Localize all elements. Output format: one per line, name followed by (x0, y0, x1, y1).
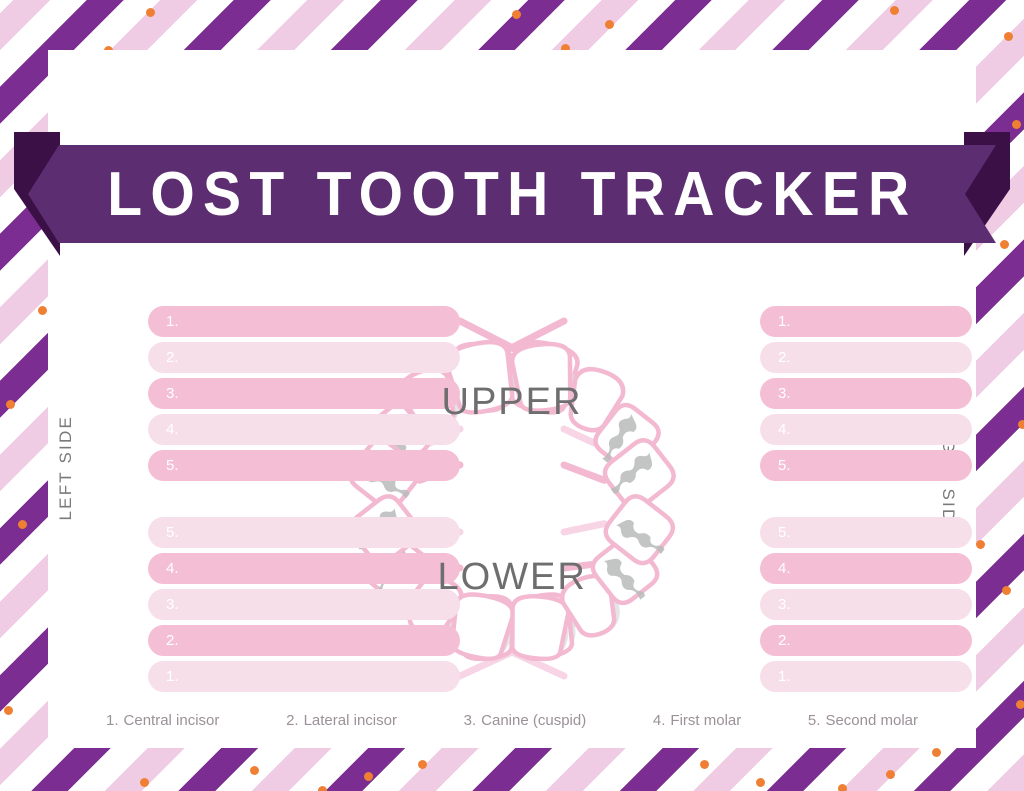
blank-upper-right-2[interactable]: 2. (760, 342, 972, 373)
blank-upper-left-2[interactable]: 2. (148, 342, 460, 373)
confetti-dot (605, 20, 614, 29)
blank-lower-left-4[interactable]: 2. (148, 625, 460, 656)
tooth-legend: 1.Central incisor2.Lateral incisor3.Cani… (48, 712, 976, 729)
lower-arch-label: LOWER (438, 556, 587, 599)
blank-upper-left-4[interactable]: 4. (148, 414, 460, 445)
blank-lower-left-3[interactable]: 3. (148, 589, 460, 620)
connector-lower-right-5 (564, 524, 604, 532)
blank-lower-right-5[interactable]: 1. (760, 661, 972, 692)
confetti-dot (838, 784, 847, 791)
confetti-dot (38, 306, 47, 315)
blank-upper-right-3[interactable]: 3. (760, 378, 972, 409)
connector-upper-right-5 (564, 465, 604, 480)
confetti-dot (4, 706, 13, 715)
confetti-dot (146, 8, 155, 17)
confetti-dot (18, 520, 27, 529)
confetti-dot (886, 770, 895, 779)
confetti-dot (932, 748, 941, 757)
ribbon-body: LOST TOOTH TRACKER (28, 145, 996, 243)
blank-upper-right-5[interactable]: 5. (760, 450, 972, 481)
confetti-dot (1004, 32, 1013, 41)
confetti-dot (756, 778, 765, 787)
confetti-dot (6, 400, 15, 409)
legend-item-5: 5.Second molar (808, 712, 918, 729)
blank-upper-left-5[interactable]: 5. (148, 450, 460, 481)
confetti-dot (1002, 586, 1011, 595)
blank-lower-left-1[interactable]: 5. (148, 517, 460, 548)
blank-upper-right-1[interactable]: 1. (760, 306, 972, 337)
legend-item-2: 2.Lateral incisor (286, 712, 397, 729)
title-ribbon: LOST TOOTH TRACKER (0, 132, 1024, 256)
page-title: LOST TOOTH TRACKER (107, 159, 917, 230)
legend-item-1: 1.Central incisor (106, 712, 219, 729)
legend-name: Canine (cuspid) (481, 712, 586, 729)
confetti-dot (890, 6, 899, 15)
legend-name: Central incisor (124, 712, 220, 729)
blank-upper-left-1[interactable]: 1. (148, 306, 460, 337)
worksheet-page: LOST TOOTH TRACKER LEFT SIDE RIGHT SIDE … (0, 0, 1024, 791)
confetti-dot (418, 760, 427, 769)
blank-lower-right-1[interactable]: 5. (760, 517, 972, 548)
legend-name: Second molar (825, 712, 918, 729)
confetti-dot (1016, 700, 1024, 709)
legend-name: Lateral incisor (304, 712, 397, 729)
blank-lower-right-2[interactable]: 4. (760, 553, 972, 584)
confetti-dot (512, 10, 521, 19)
blank-upper-right-4[interactable]: 4. (760, 414, 972, 445)
legend-number: 5. (808, 712, 821, 729)
confetti-dot (140, 778, 149, 787)
legend-item-4: 4.First molar (653, 712, 741, 729)
confetti-dot (700, 760, 709, 769)
legend-number: 3. (464, 712, 477, 729)
blank-lower-left-2[interactable]: 4. (148, 553, 460, 584)
confetti-dot (364, 772, 373, 781)
blank-lower-left-5[interactable]: 1. (148, 661, 460, 692)
upper-arch-label: UPPER (442, 381, 583, 424)
legend-number: 1. (106, 712, 119, 729)
confetti-dot (318, 786, 327, 791)
confetti-dot (250, 766, 259, 775)
confetti-dot (1018, 420, 1024, 429)
legend-number: 4. (653, 712, 666, 729)
tooth-chart: 1.2.3.4.5.1.2.3.4.5.5.4.3.2.1.5.4.3.2.1.… (48, 256, 976, 748)
confetti-dot (976, 540, 985, 549)
blank-lower-right-4[interactable]: 2. (760, 625, 972, 656)
blank-upper-left-3[interactable]: 3. (148, 378, 460, 409)
legend-item-3: 3.Canine (cuspid) (464, 712, 587, 729)
blank-lower-right-3[interactable]: 3. (760, 589, 972, 620)
legend-number: 2. (286, 712, 299, 729)
confetti-dot (1012, 120, 1021, 129)
legend-name: First molar (670, 712, 741, 729)
